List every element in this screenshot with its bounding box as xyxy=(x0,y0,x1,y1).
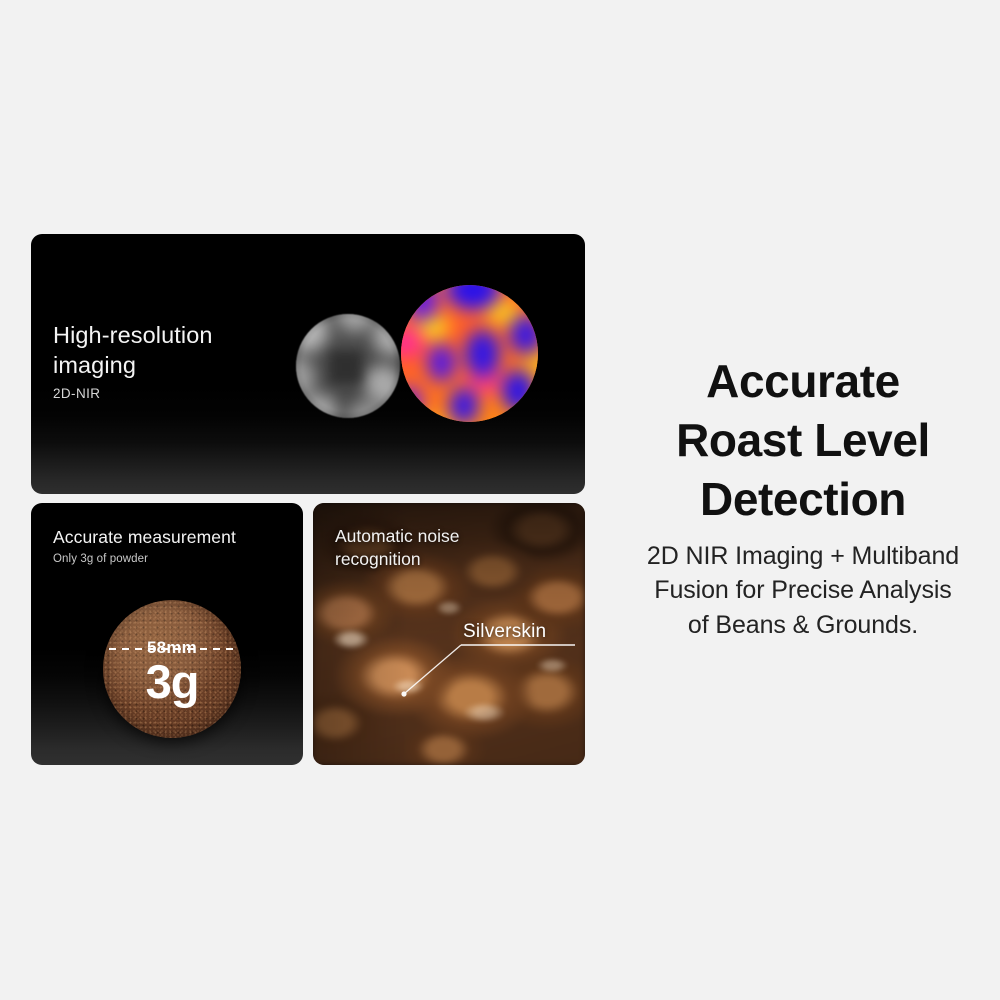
coffee-puck: 58mm 3g xyxy=(103,600,241,738)
thermal-vignette xyxy=(401,285,538,422)
imaging-headline: High-resolution imaging xyxy=(53,320,213,380)
promo-graphic: High-resolution imaging 2D-NIR Accurate … xyxy=(0,0,1000,1000)
imaging-subline: 2D-NIR xyxy=(53,386,100,401)
noise-title: Automatic noise recognition xyxy=(335,525,460,571)
puck-weight-label: 3g xyxy=(103,658,241,705)
false-color-nir-sphere xyxy=(401,285,538,422)
card-accurate-measurement: Accurate measurement Only 3g of powder 5… xyxy=(31,503,303,765)
main-heading: Accurate Roast Level Detection xyxy=(608,352,998,529)
marketing-text-block: Accurate Roast Level Detection 2D NIR Im… xyxy=(608,352,998,642)
measurement-title: Accurate measurement xyxy=(53,527,236,548)
card-automatic-noise-recognition: Automatic noise recognition Silverskin xyxy=(313,503,585,765)
card-high-resolution-imaging: High-resolution imaging 2D-NIR xyxy=(31,234,585,494)
grayscale-nir-sphere xyxy=(296,314,400,418)
main-subtitle: 2D NIR Imaging + Multiband Fusion for Pr… xyxy=(608,539,998,643)
grayscale-vignette xyxy=(296,314,400,418)
measurement-subtitle: Only 3g of powder xyxy=(53,553,148,565)
silverskin-label: Silverskin xyxy=(463,621,546,643)
